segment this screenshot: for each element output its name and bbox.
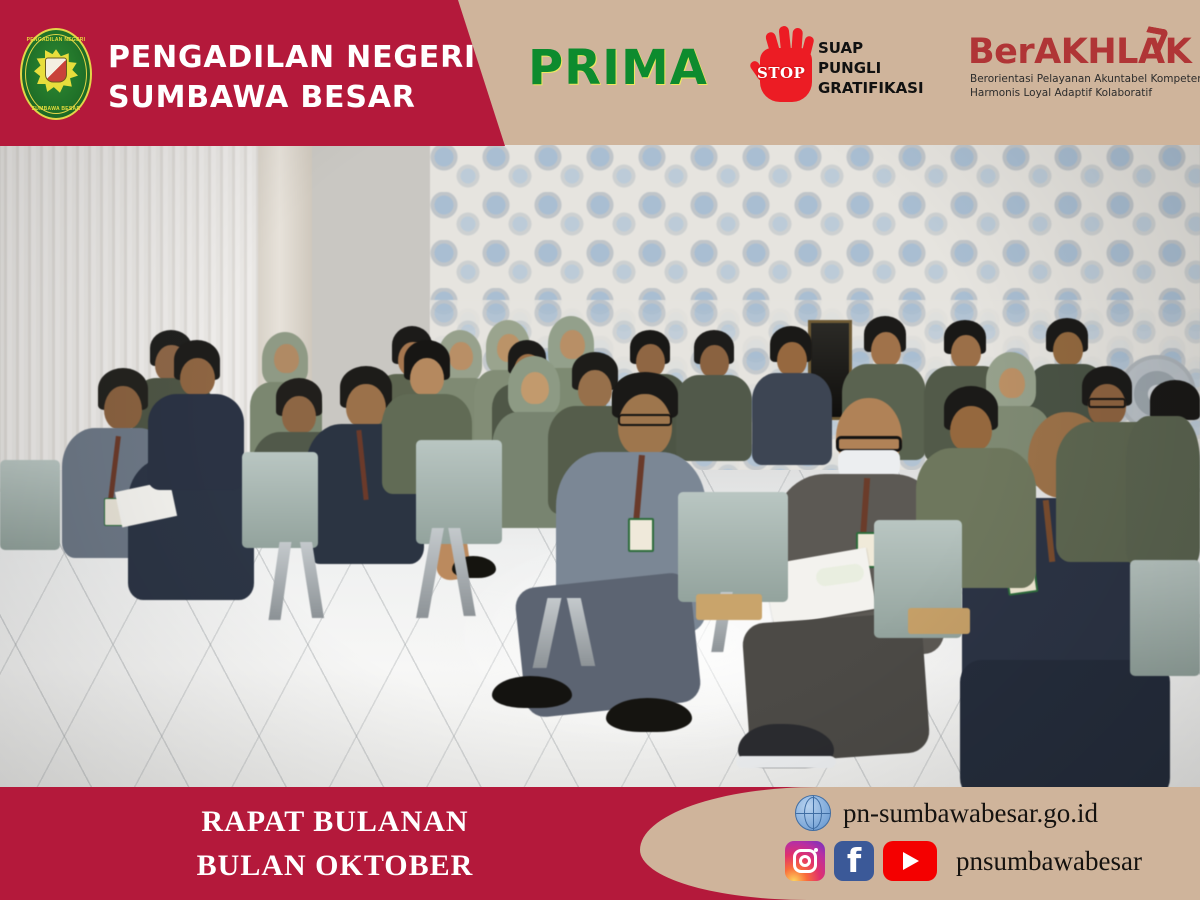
front-person-1-shoe: [492, 676, 572, 708]
pungli-line-2: PUNGLI: [818, 58, 924, 78]
person-back-e-body: [676, 375, 752, 461]
poster: PENGADILAN NEGERI SUMBAWA BESAR PENGADIL…: [0, 0, 1200, 900]
court-name-line1: PENGADILAN NEGERI: [108, 38, 476, 78]
right-person-b-glasses: [1088, 398, 1126, 408]
social-row[interactable]: f pnsumbawabesar: [785, 841, 1142, 881]
court-name: PENGADILAN NEGERI SUMBAWA BESAR: [108, 38, 476, 118]
instagram-icon[interactable]: [785, 841, 825, 881]
front-person-1-glasses: [618, 414, 672, 426]
stop-pungli-logo: STOP SUAP PUNGLI GRATIFIKASI: [756, 26, 916, 118]
youtube-play-triangle: [903, 852, 919, 870]
front-person-3-legs: [960, 660, 1170, 800]
prima-label: PRIMA: [528, 40, 708, 96]
pungli-lines: SUAP PUNGLI GRATIFIKASI: [818, 38, 924, 98]
person-back-hijab-1-face: [274, 344, 299, 373]
bench-chair-2: [242, 452, 318, 548]
bench-chair-4: [678, 492, 788, 602]
website-row[interactable]: pn-sumbawabesar.go.id: [795, 795, 1098, 831]
court-emblem-icon: PENGADILAN NEGERI SUMBAWA BESAR: [20, 28, 92, 120]
front-person-1-shoe-2: [606, 698, 692, 732]
bench-chair-6: [1130, 560, 1200, 676]
social-handle[interactable]: pnsumbawabesar: [956, 846, 1142, 877]
person-mid-c-head: [180, 358, 215, 396]
emblem-shield: [45, 58, 67, 83]
person-back-g-head: [871, 332, 901, 367]
globe-icon: [795, 795, 831, 831]
pungli-line-3: GRATIFIKASI: [818, 78, 924, 98]
person-back-i-head: [1053, 332, 1083, 366]
court-name-line2: SUMBAWA BESAR: [108, 78, 476, 118]
person-back-h-head: [951, 335, 981, 369]
emblem-ring-text-top: PENGADILAN NEGERI: [20, 37, 92, 43]
instagram-dot: [814, 848, 818, 852]
person-mid-d-head: [282, 396, 316, 434]
bench-chair-1: [0, 460, 60, 550]
side-table-box-2: [908, 608, 970, 634]
person-mid-c-body: [148, 394, 244, 490]
front-person-1-badge: [628, 518, 654, 552]
person-mid-hijab-a-face: [521, 372, 549, 404]
emblem-ring-text-bottom: SUMBAWA BESAR: [20, 106, 92, 112]
globe-meridian: [804, 797, 822, 829]
website-url[interactable]: pn-sumbawabesar.go.id: [843, 798, 1098, 829]
person-back-f-head: [777, 342, 807, 376]
youtube-icon[interactable]: [883, 841, 937, 881]
person-back-f-body: [752, 373, 832, 465]
instagram-lens: [799, 855, 811, 867]
event-title-line1: RAPAT BULANAN: [201, 800, 468, 844]
stop-label: STOP: [757, 64, 805, 82]
person-mid-e-head: [346, 384, 386, 428]
facebook-glyph: f: [834, 841, 874, 881]
right-person-c-hair: [1150, 380, 1200, 420]
event-title: RAPAT BULANAN BULAN OKTOBER: [0, 787, 670, 900]
person-back-hijab-2-face: [449, 342, 473, 370]
berakhlak-subtitle-line2: Harmonis Loyal Adaptif Kolaboratif: [970, 86, 1200, 100]
right-person-a-head: [950, 406, 992, 452]
right-person-c-body: [1126, 416, 1200, 566]
person-mid-a-head: [104, 386, 142, 430]
pungli-line-1: SUAP: [818, 38, 924, 58]
event-title-line2: BULAN OKTOBER: [197, 844, 474, 888]
person-mid-f-head: [410, 358, 444, 396]
berakhlak-subtitle-line1: Berorientasi Pelayanan Akuntabel Kompete…: [970, 72, 1200, 86]
person-back-hijab-5-face: [999, 368, 1025, 398]
facebook-icon[interactable]: f: [834, 841, 874, 881]
berakhlak-subtitle: Berorientasi Pelayanan Akuntabel Kompete…: [970, 72, 1200, 100]
berakhlak-logo: BerAKHLAK Berorientasi Pelayanan Akuntab…: [968, 32, 1183, 112]
side-table-box-1: [696, 594, 762, 620]
front-person-2-sneaker-sole: [736, 756, 836, 768]
person-mid-g-head: [578, 370, 612, 408]
person-back-e-head: [700, 345, 729, 378]
